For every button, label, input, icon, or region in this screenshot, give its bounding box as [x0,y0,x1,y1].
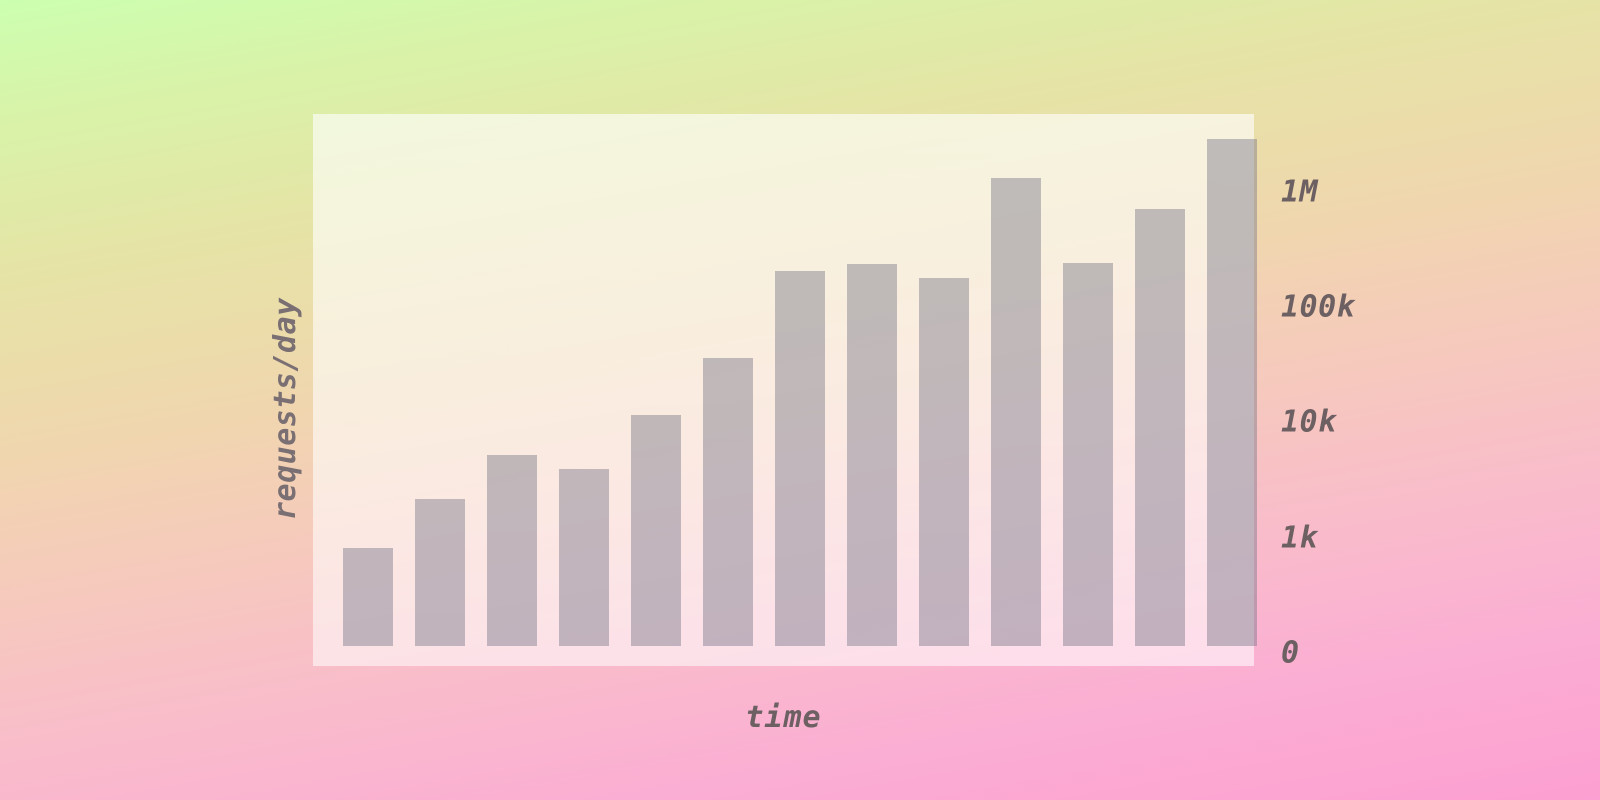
y-axis-tick-label: 1k [1281,521,1318,556]
y-axis-tick-label: 100k [1281,290,1355,325]
bar-series [313,114,1254,666]
y-axis-tick-label: 0 [1281,636,1300,671]
y-axis-label: requests/day [268,297,303,520]
bar [1135,209,1185,646]
plot-area [313,114,1254,666]
y-axis-tick-label: 1M [1281,175,1318,210]
bar [631,415,681,646]
bar [1063,263,1113,646]
bar [919,278,969,646]
x-axis-label: time [313,700,1254,735]
bar [415,499,465,646]
chart-canvas: requests/day 1M100k10k1k0 time [0,0,1600,800]
y-axis-tick-label: 10k [1281,405,1337,440]
bar [991,178,1041,646]
bar [703,358,753,646]
bar [343,548,393,646]
bar [487,455,537,646]
bar [1207,139,1257,646]
bar [847,264,897,646]
bar [559,469,609,646]
bar [775,271,825,646]
